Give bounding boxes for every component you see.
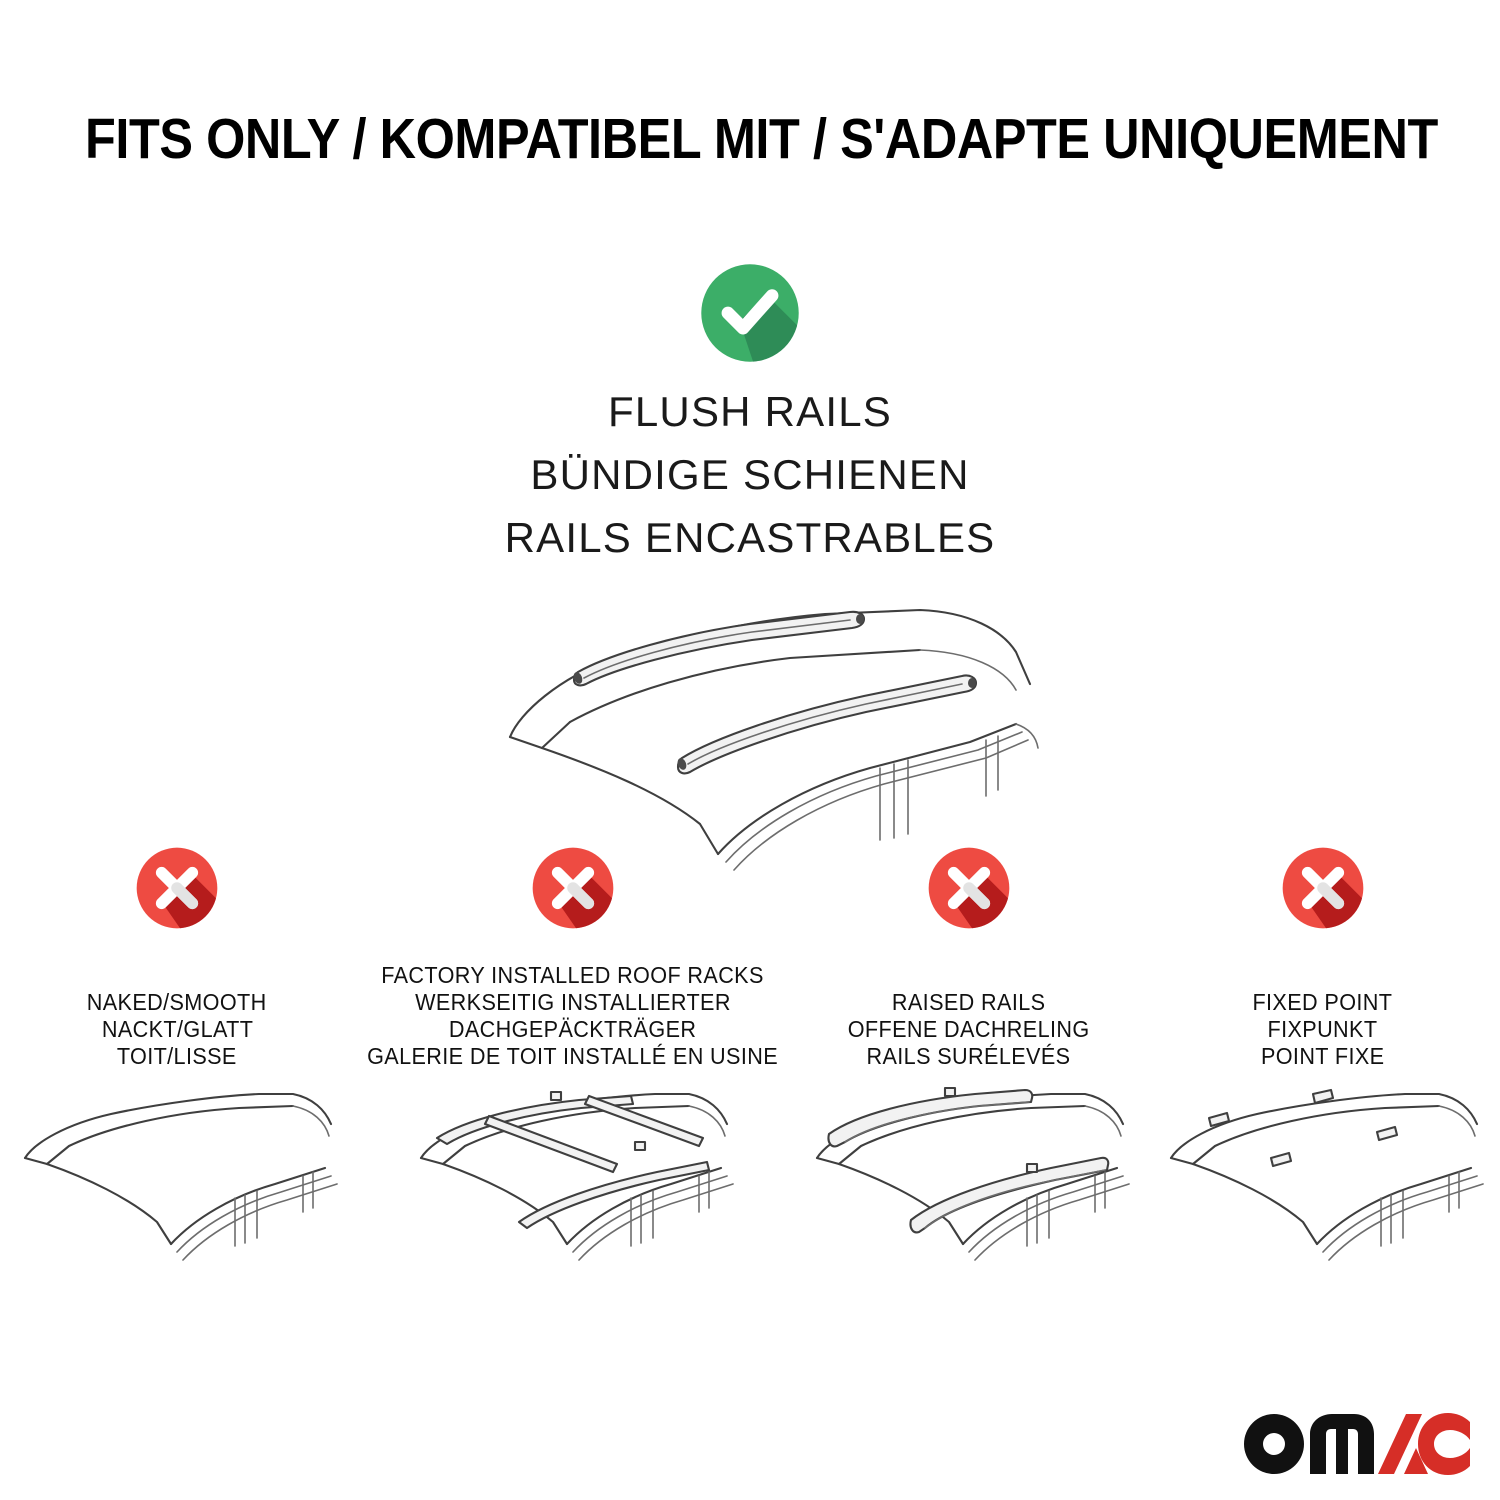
check-circle-icon <box>692 255 808 371</box>
page-title: FITS ONLY / KOMPATIBEL MIT / S'ADAPTE UN… <box>85 108 1271 170</box>
compatible-label-de: BÜNDIGE SCHIENEN <box>0 452 1500 497</box>
omac-logo <box>1238 1408 1470 1480</box>
label-en: RAISED RAILS <box>892 989 1045 1016</box>
label-de: NACKT/GLATT <box>101 1016 252 1043</box>
logo-letter-m <box>1310 1414 1374 1474</box>
column-labels: RAISED RAILS OFFENE DACHRELING RAILS SUR… <box>840 942 1097 1070</box>
compatible-labels: FLUSH RAILS BÜNDIGE SCHIENEN RAILS ENCAS… <box>0 389 1500 560</box>
label-en: NAKED/SMOOTH <box>87 989 267 1016</box>
label-de-2: DACHGEPÄCKTRÄGER <box>449 1016 696 1043</box>
cross-circle-icon <box>1275 840 1371 936</box>
car-roof-raised-rails-illustration <box>799 1080 1139 1315</box>
column-labels: FIXED POINT FIXPUNKT POINT FIXE <box>1248 942 1397 1070</box>
car-roof-factory-racks-illustration <box>403 1080 743 1315</box>
compatible-label-en: FLUSH RAILS <box>0 389 1500 434</box>
label-de: OFFENE DACHRELING <box>848 1016 1090 1043</box>
label-fr: POINT FIXE <box>1261 1043 1385 1070</box>
incompatible-column-naked: NAKED/SMOOTH NACKT/GLATT TOIT/LISSE <box>0 840 354 1340</box>
column-labels: NAKED/SMOOTH NACKT/GLATT TOIT/LISSE <box>81 942 272 1070</box>
label-fr: TOIT/LISSE <box>117 1043 237 1070</box>
car-roof-fixed-point-illustration <box>1153 1080 1493 1315</box>
cross-circle-icon <box>525 840 621 936</box>
label-de: FIXPUNKT <box>1268 1016 1378 1043</box>
compatible-label-fr: RAILS ENCASTRABLES <box>0 515 1500 560</box>
incompatible-column-factory-racks: FACTORY INSTALLED ROOF RACKS WERKSEITIG … <box>354 840 791 1340</box>
cross-circle-icon <box>129 840 225 936</box>
label-en: FACTORY INSTALLED ROOF RACKS <box>382 962 765 989</box>
incompatible-column-fixed-point: FIXED POINT FIXPUNKT POINT FIXE <box>1146 840 1500 1340</box>
label-fr: RAILS SURÉLEVÉS <box>867 1043 1071 1070</box>
car-roof-flush-rails-illustration <box>450 572 1050 872</box>
label-fr: GALERIE DE TOIT INSTALLÉ EN USINE <box>367 1043 778 1070</box>
column-labels: FACTORY INSTALLED ROOF RACKS WERKSEITIG … <box>354 942 791 1070</box>
car-roof-naked-illustration <box>7 1080 347 1315</box>
incompatible-column-raised-rails: RAISED RAILS OFFENE DACHRELING RAILS SUR… <box>791 840 1145 1340</box>
label-en: FIXED POINT <box>1253 989 1393 1016</box>
logo-letter-o <box>1244 1414 1304 1474</box>
cross-circle-icon <box>921 840 1017 936</box>
incompatible-section: NAKED/SMOOTH NACKT/GLATT TOIT/LISSE <box>0 840 1500 1340</box>
label-de-1: WERKSEITIG INSTALLIERTER <box>415 989 731 1016</box>
compatible-section: FLUSH RAILS BÜNDIGE SCHIENEN RAILS ENCAS… <box>0 255 1500 872</box>
logo-letter-c <box>1418 1413 1470 1475</box>
